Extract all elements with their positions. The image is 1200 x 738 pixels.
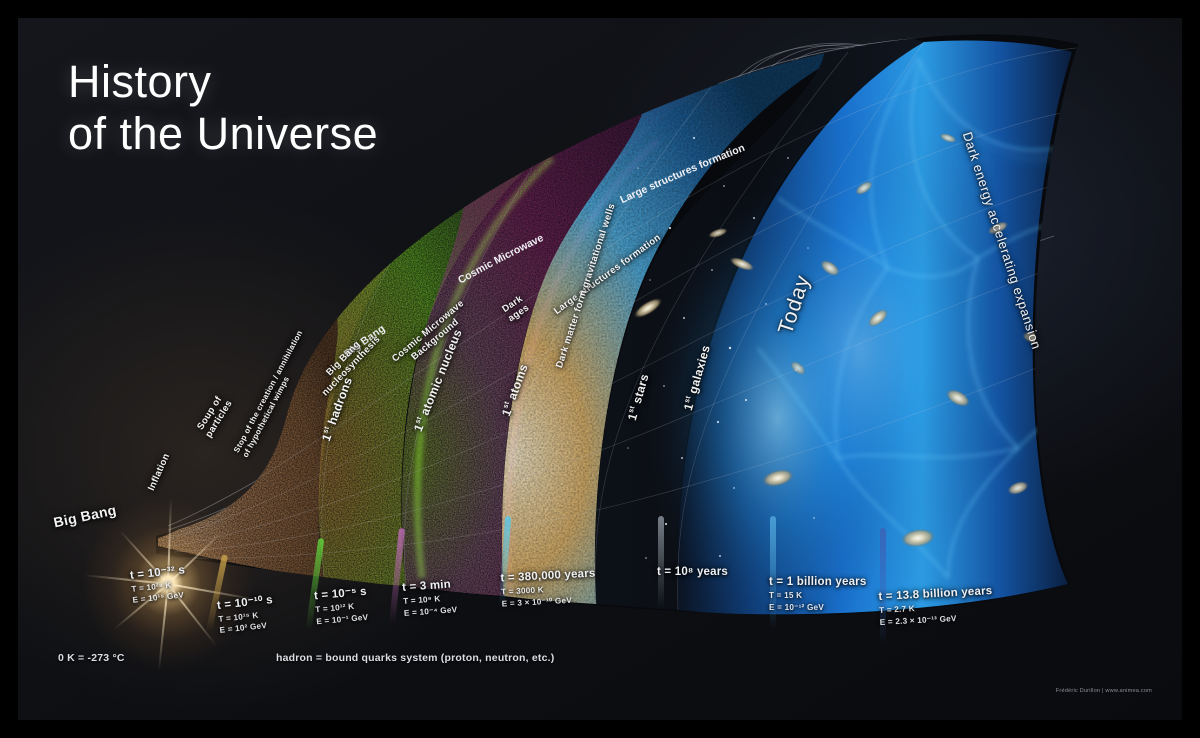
epoch-energy: E = 10⁻¹² GeV [769, 602, 866, 612]
timeline-tick-stars [658, 516, 664, 608]
epoch-time: t = 3 min [402, 578, 456, 594]
epoch-stamp-recombination: t = 380,000 years T = 3000 K E = 3 × 10⁻… [500, 568, 597, 609]
footnote-hadron: hadron = bound quarks system (proton, ne… [276, 652, 554, 664]
universe-cone-diagram: Big Bang Cosmic Microwave Large structur… [18, 18, 1182, 720]
epoch-temperature: T = 10⁹ K [403, 593, 457, 606]
epoch-time: t = 1 billion years [769, 576, 866, 588]
credit-line: Frédéric Durillon | www.animea.com [1056, 688, 1152, 694]
epoch-time: t = 10⁸ years [657, 566, 728, 578]
epoch-stamp-today: t = 13.8 billion years T = 2.7 K E = 2.3… [878, 585, 994, 627]
epoch-stamp-electroweak: t = 10⁻¹⁰ s T = 10¹⁵ K E = 10² GeV [216, 592, 276, 635]
epoch-stamp-inflation-end: t = 10⁻³² s T = 10²⁸ K E = 10¹⁵ GeV [129, 562, 188, 605]
epoch-stamp-first-galaxies: t = 1 billion years T = 15 K E = 10⁻¹² G… [769, 576, 866, 612]
screenshot-root: History of the Universe [0, 0, 1200, 738]
epoch-stamp-nucleosynthesis: t = 3 min T = 10⁹ K E = 10⁻⁴ GeV [402, 578, 458, 618]
footnote-kelvin: 0 K = -273 °C [58, 652, 125, 664]
epoch-temperature: T = 15 K [769, 591, 866, 600]
infographic-poster: History of the Universe [18, 18, 1182, 720]
epoch-stamp-first-stars: t = 10⁸ years [657, 566, 728, 578]
epoch-stamp-hadron-era: t = 10⁻⁵ s T = 10¹² K E = 10⁻¹ GeV [313, 584, 369, 626]
